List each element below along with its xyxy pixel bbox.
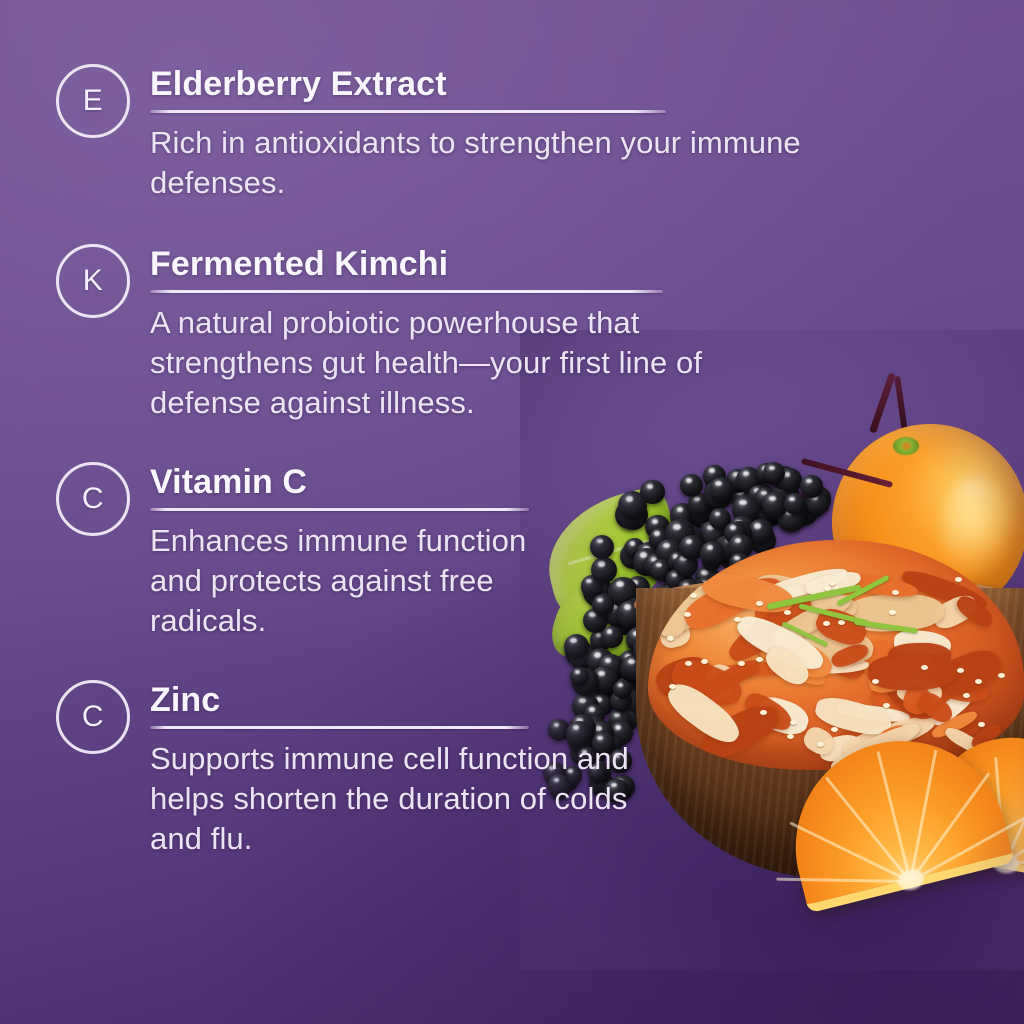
kimchi-shred xyxy=(930,708,979,741)
kimchi-shred xyxy=(753,563,849,607)
ingredient-title: Fermented Kimchi xyxy=(150,244,810,284)
kimchi-shred xyxy=(929,684,980,731)
green-onion-garnish xyxy=(836,575,890,607)
elderberry xyxy=(777,505,803,531)
circle-letter-c-icon: C xyxy=(56,462,130,536)
sesame-seed xyxy=(978,722,985,727)
kimchi-shred xyxy=(949,715,980,736)
ingredient-list: E Elderberry Extract Rich in antioxidant… xyxy=(0,0,760,1024)
kimchi-shred xyxy=(884,645,959,709)
elderberry xyxy=(802,496,825,519)
sesame-seed xyxy=(832,585,839,590)
orange-segment-line xyxy=(876,751,911,882)
badge-letter: E xyxy=(83,84,104,118)
kimchi-shred xyxy=(901,650,994,709)
kimchi-shred xyxy=(810,659,868,675)
kimchi-shred xyxy=(761,641,815,690)
kimchi-shred xyxy=(846,592,945,633)
kimchi-shred xyxy=(757,644,829,690)
sesame-seed xyxy=(892,590,899,595)
kimchi-shred xyxy=(768,589,857,651)
green-onion-garnish xyxy=(854,620,918,634)
kimchi-shred xyxy=(914,688,956,727)
kimchi-shred xyxy=(761,583,858,623)
elder-branch xyxy=(801,458,893,488)
kimchi-shred xyxy=(834,569,919,600)
kimchi-shred xyxy=(868,654,957,691)
orange-highlight xyxy=(940,478,1016,574)
badge-letter: C xyxy=(82,482,104,516)
green-onion-garnish xyxy=(798,603,869,625)
orange-stem-leaf xyxy=(893,437,919,455)
kimchi-shred xyxy=(954,592,997,631)
elderberry xyxy=(800,475,823,498)
sesame-seed xyxy=(824,586,831,591)
sesame-seed xyxy=(872,679,879,684)
kimchi-shred xyxy=(969,721,1005,754)
kimchi-shred xyxy=(813,635,870,685)
kimchi-shred xyxy=(942,724,991,760)
elderberry xyxy=(784,493,806,515)
sesame-seed xyxy=(957,668,964,673)
sesame-seed xyxy=(790,720,797,725)
kimchi-shred xyxy=(817,732,864,765)
elderberry xyxy=(806,486,832,512)
elderberry xyxy=(772,466,796,490)
sesame-seed xyxy=(883,703,890,708)
orange-segment-line xyxy=(994,757,1006,865)
kimchi-shred xyxy=(804,591,851,606)
sesame-seed xyxy=(998,673,1005,678)
elder-twig xyxy=(894,376,908,432)
kimchi-shred xyxy=(812,603,870,649)
elderberry xyxy=(762,492,788,518)
kimchi-shred xyxy=(887,642,950,670)
kimchi-shred xyxy=(751,570,820,615)
kimchi-shred xyxy=(933,642,1007,700)
sesame-seed xyxy=(817,742,824,747)
orange-segment-line xyxy=(1003,766,1024,865)
kimchi-shred xyxy=(812,693,894,740)
green-onion-garnish xyxy=(782,621,829,647)
kimchi-shred xyxy=(893,628,952,659)
orange-segment-line xyxy=(943,774,1006,865)
elderberry xyxy=(765,499,786,520)
kimchi-shred xyxy=(836,701,910,724)
kimchi-shred xyxy=(751,692,812,739)
ingredient-description: Enhances immune function and protects ag… xyxy=(150,521,540,641)
orange-pith xyxy=(896,867,926,893)
kimchi-shred xyxy=(834,722,907,770)
kimchi-shred xyxy=(877,722,911,749)
ingredient-title: Zinc xyxy=(150,680,630,720)
orange-segment-line xyxy=(1003,800,1024,866)
sesame-seed xyxy=(838,620,845,625)
ingredient-description: Supports immune cell function and helps … xyxy=(150,739,630,859)
ingredient-title: Elderberry Extract xyxy=(150,64,840,104)
orange-segment-line xyxy=(907,814,1005,866)
kimchi-shred xyxy=(885,599,929,627)
kimchi-shred xyxy=(882,647,946,704)
kimchi-shred xyxy=(868,680,964,737)
elderberry xyxy=(763,462,785,484)
orange-navel xyxy=(902,442,911,450)
kimchi-shred xyxy=(781,647,817,679)
kimchi-shred xyxy=(896,677,944,707)
elder-twig xyxy=(869,373,896,434)
orange-wedge xyxy=(920,724,1024,884)
sesame-seed xyxy=(889,610,896,615)
kimchi-shred xyxy=(929,590,982,633)
circle-letter-e-icon: E xyxy=(56,64,130,138)
orange-segment-line xyxy=(789,821,911,882)
orange-pith xyxy=(991,851,1020,875)
circle-letter-c-icon: C xyxy=(56,680,130,754)
kimchi-shred xyxy=(804,568,863,597)
title-divider xyxy=(150,508,529,511)
sesame-seed xyxy=(760,710,767,715)
sesame-seed xyxy=(823,621,830,626)
kimchi-shred xyxy=(797,601,849,644)
badge-letter: K xyxy=(83,264,104,298)
elderberry xyxy=(771,480,799,508)
title-divider xyxy=(150,726,529,729)
orange-segment-line xyxy=(776,878,910,883)
promo-graphic: E Elderberry Extract Rich in antioxidant… xyxy=(0,0,1024,1024)
elderberry xyxy=(806,492,829,515)
kimchi-shred xyxy=(829,641,870,670)
green-onion-garnish xyxy=(766,584,861,610)
kimchi-shred xyxy=(881,664,948,727)
sesame-seed xyxy=(829,581,836,586)
title-divider xyxy=(150,290,663,293)
kimchi-shred xyxy=(901,683,935,717)
orange-segment-line xyxy=(909,772,990,882)
orange-wedge xyxy=(773,719,1015,914)
kimchi-shred xyxy=(775,612,876,669)
kimchi-shred xyxy=(831,724,871,760)
kimchi-shred xyxy=(828,717,923,770)
kimchi-shred xyxy=(864,647,939,698)
elderberry xyxy=(778,505,805,532)
kimchi-shred xyxy=(764,606,859,643)
sesame-seed xyxy=(787,734,794,739)
whole-orange xyxy=(832,424,1024,620)
kimchi-shred xyxy=(900,566,991,615)
orange-segment-line xyxy=(825,776,912,882)
title-divider xyxy=(150,110,666,113)
kimchi-shred xyxy=(753,577,822,640)
elder-branch xyxy=(764,477,829,512)
orange-segment-line xyxy=(1004,850,1024,866)
sesame-seed xyxy=(955,577,962,582)
sesame-seed xyxy=(963,693,970,698)
sesame-seed xyxy=(784,610,791,615)
elderberry xyxy=(790,498,818,526)
kimchi-shred xyxy=(751,587,821,640)
ingredient-title: Vitamin C xyxy=(150,462,540,502)
badge-letter: C xyxy=(82,700,104,734)
elderberry xyxy=(773,495,801,523)
elderberry xyxy=(777,468,801,492)
elderberry xyxy=(786,499,810,523)
kimchi-shred xyxy=(750,623,837,685)
ingredient-description: Rich in antioxidants to strengthen your … xyxy=(150,123,840,203)
kimchi-shred xyxy=(857,635,913,687)
orange-segment-line xyxy=(910,815,1024,883)
sesame-seed xyxy=(921,665,928,670)
kimchi-shred xyxy=(840,711,938,764)
kimchi-shred xyxy=(799,723,837,759)
sesame-seed xyxy=(831,727,838,732)
orange-segment-line xyxy=(909,750,938,882)
sesame-seed xyxy=(975,679,982,684)
circle-letter-k-icon: K xyxy=(56,244,130,318)
ingredient-description: A natural probiotic powerhouse that stre… xyxy=(150,303,810,423)
